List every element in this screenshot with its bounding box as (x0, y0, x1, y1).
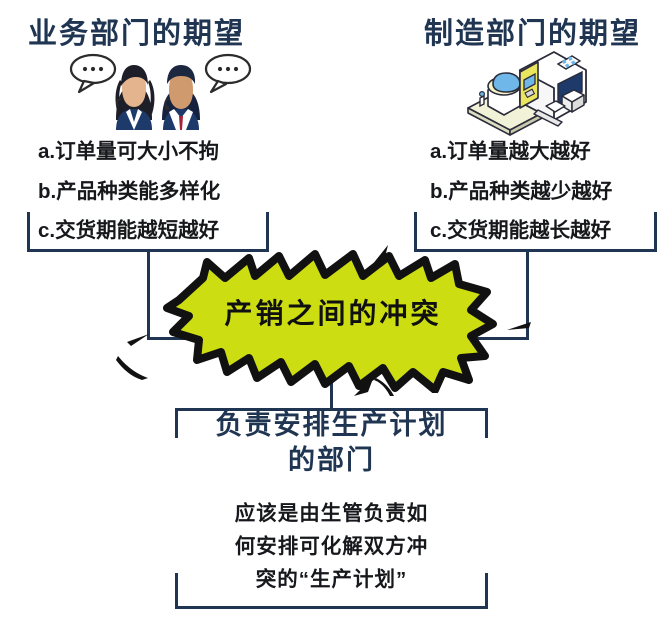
left-department-heading: 业务部门的期望 (28, 20, 245, 49)
accent-tick-icon (505, 318, 535, 336)
conflict-starburst: 产销之间的冲突 (163, 248, 503, 393)
list-item: b.产品种类能多样化 (38, 182, 328, 203)
conflict-label: 产销之间的冲突 (163, 248, 503, 393)
conclusion-bracket (175, 573, 488, 609)
responsible-department-line2: 的部门 (175, 443, 488, 478)
accent-tick-icon (370, 243, 400, 269)
left-department-bracket (27, 212, 269, 252)
list-item: a.订单量可大小不拘 (38, 142, 328, 163)
accent-tick-icon (352, 370, 396, 402)
diagram-canvas: 业务部门的期望 (0, 0, 669, 635)
responsible-department-text: 负责安排生产计划 的部门 (175, 408, 488, 477)
conclusion-line2: 何安排可化解双方冲 (175, 530, 488, 563)
conclusion-line1: 应该是由生管负责如 (175, 497, 488, 530)
two-sales-people-with-headsets-icon (66, 52, 256, 132)
right-department-bracket (414, 212, 657, 252)
right-department-heading: 制造部门的期望 (424, 20, 641, 49)
factory-machine-icon (462, 48, 592, 140)
responsible-department-line1: 负责安排生产计划 (175, 408, 488, 443)
list-item: a.订单量越大越好 (430, 142, 669, 163)
list-item: b.产品种类越少越好 (430, 182, 669, 203)
accent-tick-icon (125, 330, 151, 350)
accent-tick-icon (116, 352, 150, 382)
connector-left-vertical (147, 250, 150, 339)
